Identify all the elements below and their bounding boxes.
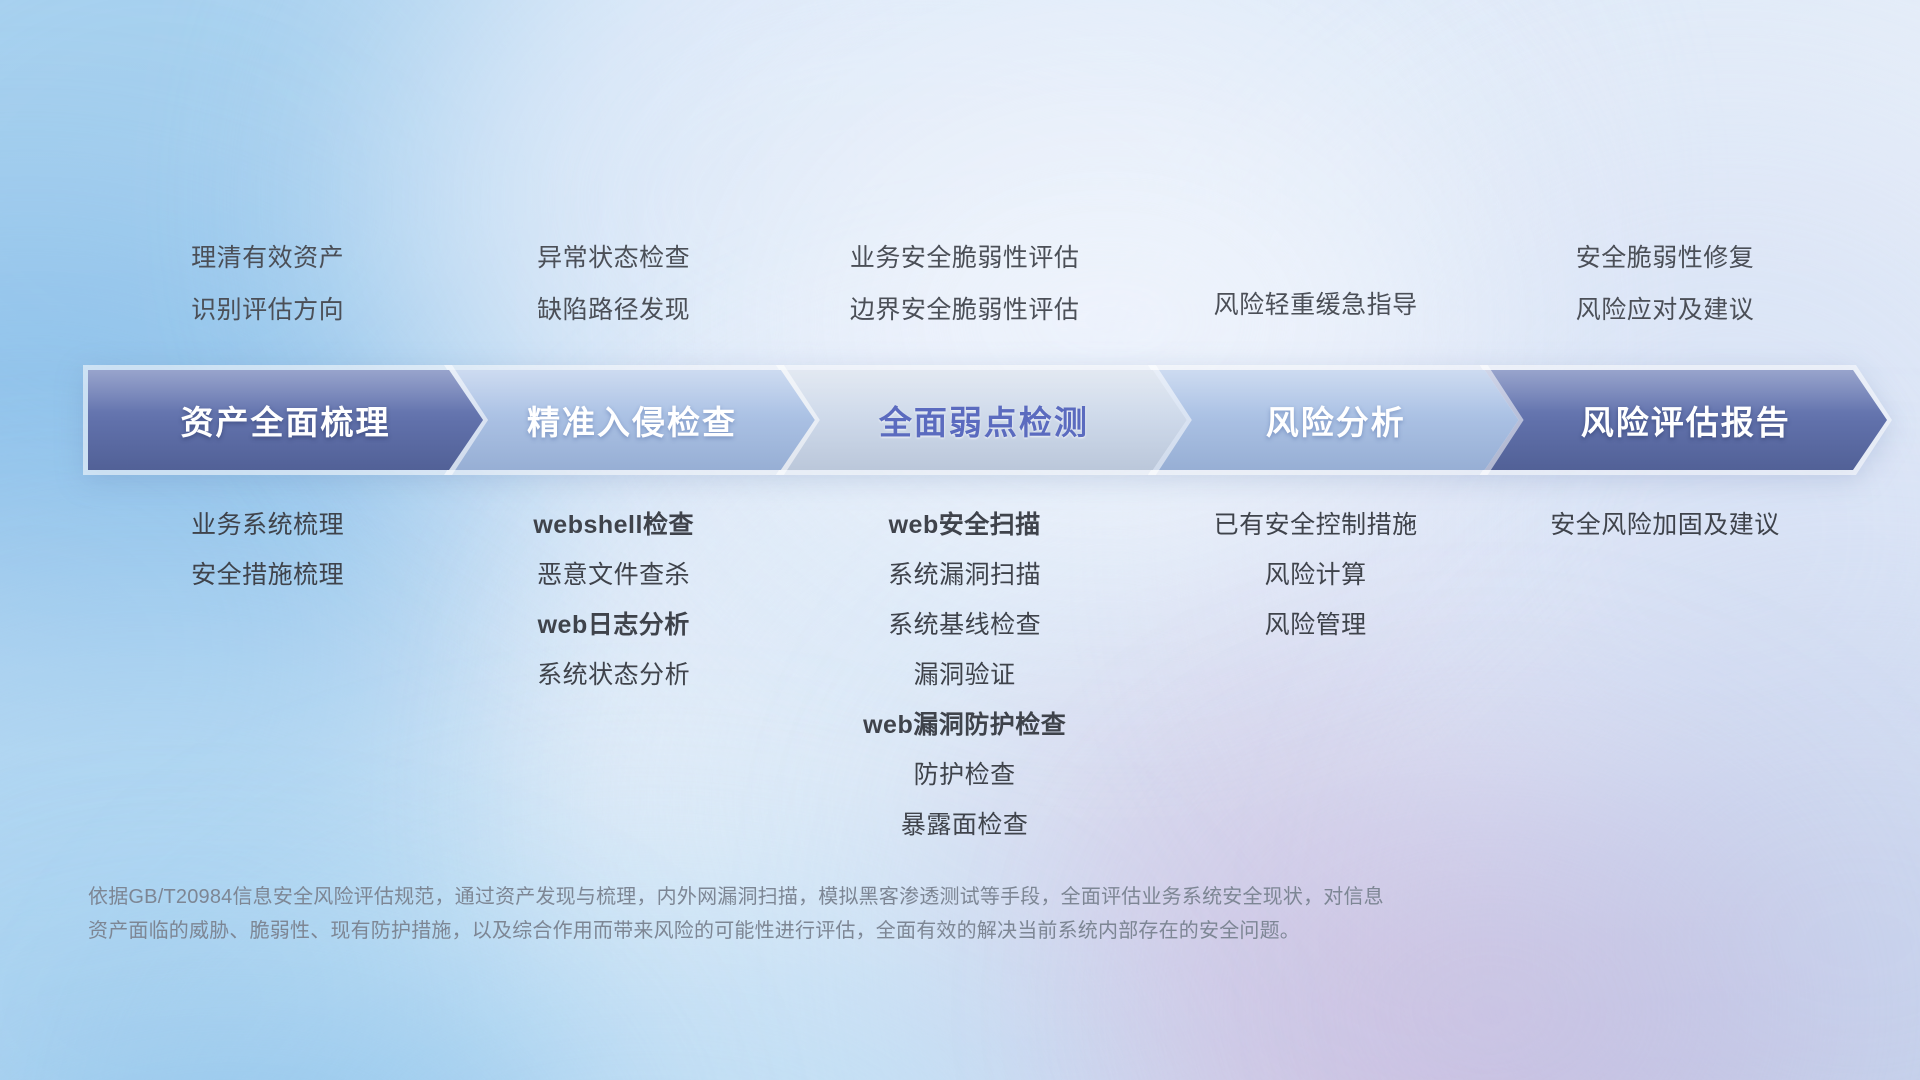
process-stage-weakness-detection[interactable]: 全面弱点检测 (781, 370, 1187, 470)
bottom-caption-item: 系统基线检查 (888, 600, 1041, 650)
bottom-caption-col-asset-inventory: 业务系统梳理安全措施梳理 (88, 500, 447, 600)
process-stage-label: 风险分析 (1266, 396, 1406, 444)
process-stage-intrusion-check[interactable]: 精准入侵检查 (449, 370, 815, 470)
bottom-caption-item: 安全措施梳理 (191, 550, 344, 600)
bottom-caption-col-risk-report: 安全风险加固及建议 (1482, 500, 1848, 550)
process-stage-label: 精准入侵检查 (527, 396, 737, 444)
bottom-caption-item: 业务系统梳理 (191, 500, 344, 550)
top-caption-item: 安全脆弱性修复 (1576, 232, 1755, 284)
process-chevron-banner: 资产全面梳理精准入侵检查全面弱点检测风险分析风险评估报告 (88, 370, 1853, 470)
footer-description: 依据GB/T20984信息安全风险评估规范，通过资产发现与梳理，内外网漏洞扫描，… (88, 880, 1608, 948)
process-stage-risk-report[interactable]: 风险评估报告 (1485, 370, 1887, 470)
bottom-caption-item: 防护检查 (914, 750, 1016, 800)
process-stage-label: 资产全面梳理 (181, 396, 391, 444)
process-stage-asset-inventory[interactable]: 资产全面梳理 (88, 370, 483, 470)
top-caption-item: 风险应对及建议 (1576, 284, 1755, 336)
top-caption-item: 业务安全脆弱性评估 (850, 232, 1080, 284)
process-stage-label: 全面弱点检测 (879, 396, 1089, 444)
bottom-caption-item: 系统漏洞扫描 (888, 550, 1041, 600)
bottom-caption-col-risk-analysis: 已有安全控制措施风险计算风险管理 (1149, 500, 1482, 650)
bottom-caption-item: web日志分析 (538, 600, 690, 650)
top-caption-item: 异常状态检查 (537, 232, 690, 284)
top-caption-col-risk-analysis: 风险轻重缓急指导 (1149, 232, 1482, 352)
process-stage-label: 风险评估报告 (1581, 396, 1791, 444)
top-caption-col-intrusion-check: 异常状态检查缺陷路径发现 (447, 232, 780, 352)
bottom-caption-item: web漏洞防护检查 (863, 700, 1066, 750)
top-caption-item: 缺陷路径发现 (537, 284, 690, 336)
bottom-caption-item: 已有安全控制措施 (1214, 500, 1418, 550)
bottom-caption-item: 风险计算 (1265, 550, 1367, 600)
bottom-caption-item: 漏洞验证 (914, 650, 1016, 700)
bottom-caption-item: webshell检查 (533, 500, 694, 550)
bottom-caption-col-weakness-detection: web安全扫描系统漏洞扫描系统基线检查漏洞验证web漏洞防护检查防护检查暴露面检… (780, 500, 1149, 850)
bottom-caption-item: 风险管理 (1265, 600, 1367, 650)
bottom-caption-item: 系统状态分析 (537, 650, 690, 700)
top-caption-col-risk-report: 安全脆弱性修复风险应对及建议 (1482, 232, 1848, 352)
bottom-caption-col-intrusion-check: webshell检查恶意文件查杀web日志分析系统状态分析 (447, 500, 780, 700)
footer-line-1: 依据GB/T20984信息安全风险评估规范，通过资产发现与梳理，内外网漏洞扫描，… (88, 880, 1608, 914)
bottom-caption-row: 业务系统梳理安全措施梳理webshell检查恶意文件查杀web日志分析系统状态分… (88, 500, 1848, 850)
top-caption-item: 边界安全脆弱性评估 (850, 284, 1080, 336)
bottom-caption-item: 安全风险加固及建议 (1550, 500, 1780, 550)
process-stage-risk-analysis[interactable]: 风险分析 (1153, 370, 1519, 470)
bottom-caption-item: web安全扫描 (889, 500, 1041, 550)
top-caption-item: 理清有效资产 (191, 232, 344, 284)
bottom-caption-item: 暴露面检查 (901, 800, 1029, 850)
top-caption-col-asset-inventory: 理清有效资产识别评估方向 (88, 232, 447, 352)
footer-line-2: 资产面临的威胁、脆弱性、现有防护措施，以及综合作用而带来风险的可能性进行评估，全… (88, 914, 1608, 948)
top-caption-row: 理清有效资产识别评估方向异常状态检查缺陷路径发现业务安全脆弱性评估边界安全脆弱性… (88, 232, 1848, 352)
bottom-caption-item: 恶意文件查杀 (537, 550, 690, 600)
top-caption-item: 风险轻重缓急指导 (1214, 279, 1418, 331)
top-caption-col-weakness-detection: 业务安全脆弱性评估边界安全脆弱性评估 (780, 232, 1149, 352)
top-caption-item: 识别评估方向 (191, 284, 344, 336)
